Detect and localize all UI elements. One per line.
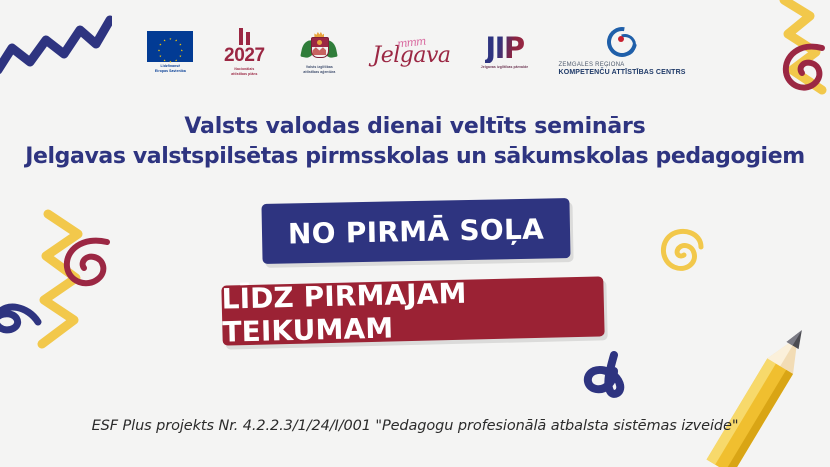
nap-logo-caption: Nacionālais attīstības plāns	[222, 67, 266, 76]
poster-canvas: Līdzfinansē Eiropas Savienība 2027 Nacio…	[0, 0, 830, 467]
spiral-yellow-right-icon	[657, 225, 709, 277]
eu-flag-logo: Līdzfinansē Eiropas Savienība	[144, 31, 196, 73]
spiral-darkred-left-icon	[57, 230, 119, 292]
page-title-line1: Valsts valodas dienai veltīts seminārs	[0, 112, 830, 142]
nap-2027-logo: 2027 Nacionālais attīstības plāns	[222, 28, 266, 76]
jip-logo: JIP Jelgavas izglītības pārvalde	[477, 34, 533, 69]
zrkac-line1: ZEMGALES REĢIONA	[559, 62, 686, 69]
page-title-line2: Jelgavas valstspilsētas pirmsskolas un s…	[0, 142, 830, 172]
zrkac-line2: KOMPETENČU ATTĪSTĪBAS CENTRS	[559, 69, 686, 77]
latvia-coat-of-arms-icon	[302, 30, 336, 63]
jip-logo-caption: Jelgavas izglītības pārvalde	[477, 65, 533, 69]
nap-year: 2027	[224, 46, 265, 65]
letter-a-blue-icon	[580, 345, 636, 401]
jelgava-logo: mmm Jelgava	[372, 29, 450, 75]
logo-strip: Līdzfinansē Eiropas Savienība 2027 Nacio…	[0, 24, 830, 80]
page-title: Valsts valodas dienai veltīts seminārs J…	[0, 112, 830, 172]
banner-red: LĪDZ PIRMAJAM TEIKUMAM	[221, 276, 604, 345]
viaa-logo-caption: Valsts izglītības attīstības aģentūra	[292, 65, 346, 74]
pencil-yellow-bottom-right-icon	[700, 315, 830, 467]
jip-wordmark: JIP	[485, 34, 523, 63]
nap-bars-icon	[239, 28, 251, 45]
jelgava-crown-icon: mmm	[397, 36, 426, 50]
eu-logo-caption: Līdzfinansē Eiropas Savienība	[144, 64, 196, 73]
eu-flag-icon	[147, 31, 193, 62]
zrkac-logo: ZEMGALES REĢIONA KOMPETENČU ATTĪSTĪBAS C…	[559, 27, 686, 78]
banner-blue: NO PIRMĀ SOĻA	[261, 198, 570, 264]
squiggle-blue-left-icon	[0, 292, 42, 342]
viaa-coat-of-arms-logo: Valsts izglītības attīstības aģentūra	[292, 30, 346, 74]
zigzag-yellow-left-icon	[30, 208, 100, 356]
project-footer-text: ESF Plus projekts Nr. 4.2.2.3/1/24/I/001…	[0, 418, 830, 434]
zrkac-mark-icon	[607, 27, 637, 57]
